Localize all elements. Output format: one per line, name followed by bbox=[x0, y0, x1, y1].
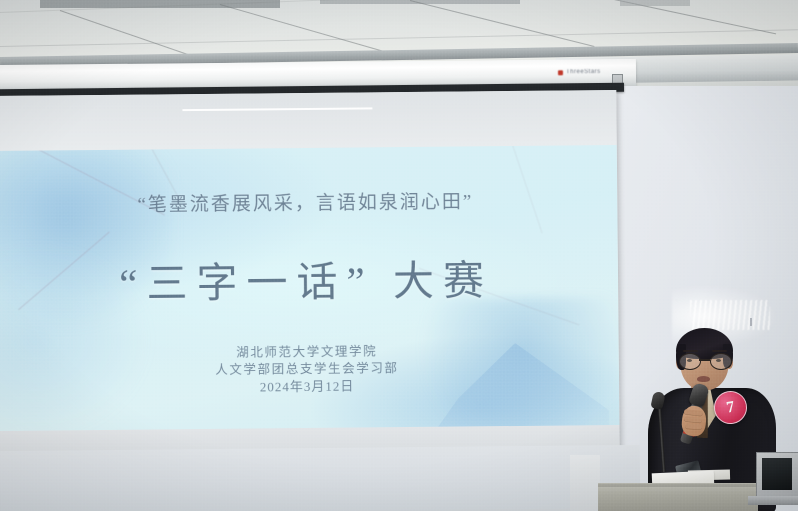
brand-text: ThreeStars bbox=[566, 69, 601, 75]
monitor-base bbox=[748, 496, 798, 505]
slide-title: “三字一话” 大赛 bbox=[0, 245, 618, 311]
screen-blank-margin-top bbox=[0, 90, 617, 151]
ceiling-dark-panel bbox=[620, 0, 690, 6]
speaker-eyebrow bbox=[683, 350, 698, 352]
lectern-desk bbox=[598, 483, 758, 511]
glasses-icon bbox=[679, 353, 731, 368]
classroom-photo-scene: ThreeStars 记 “笔墨流香 bbox=[0, 0, 798, 511]
projection-screen: “笔墨流香展风采，言语如泉润心田” “三字一话” 大赛 湖北师范大学文理学院 人… bbox=[0, 90, 620, 456]
lectern-top-edge bbox=[598, 483, 758, 487]
glasses-lens-right bbox=[710, 353, 732, 370]
speaker-eyebrow bbox=[712, 350, 727, 352]
brand-logo-icon bbox=[558, 70, 563, 75]
presentation-slide: “笔墨流香展风采，言语如泉润心田” “三字一话” 大赛 湖北师范大学文理学院 人… bbox=[0, 145, 619, 433]
monitor-screen bbox=[762, 458, 792, 490]
glasses-lens-left bbox=[679, 353, 701, 370]
ceiling-grid-line bbox=[410, 0, 595, 47]
slide-organizer-block: 湖北师范大学文理学院 人文学部团总支学生会学习部 2024年3月12日 bbox=[0, 341, 619, 398]
speaker-mouth bbox=[697, 376, 710, 382]
wall-below-screen bbox=[0, 445, 640, 511]
glasses-bridge bbox=[699, 359, 710, 361]
desk-left-edge bbox=[570, 455, 600, 511]
wall-nail bbox=[750, 318, 752, 326]
slide-subtitle: “笔墨流香展风采，言语如泉润心田” bbox=[0, 185, 617, 218]
wall-scuff-streaks bbox=[690, 300, 770, 330]
